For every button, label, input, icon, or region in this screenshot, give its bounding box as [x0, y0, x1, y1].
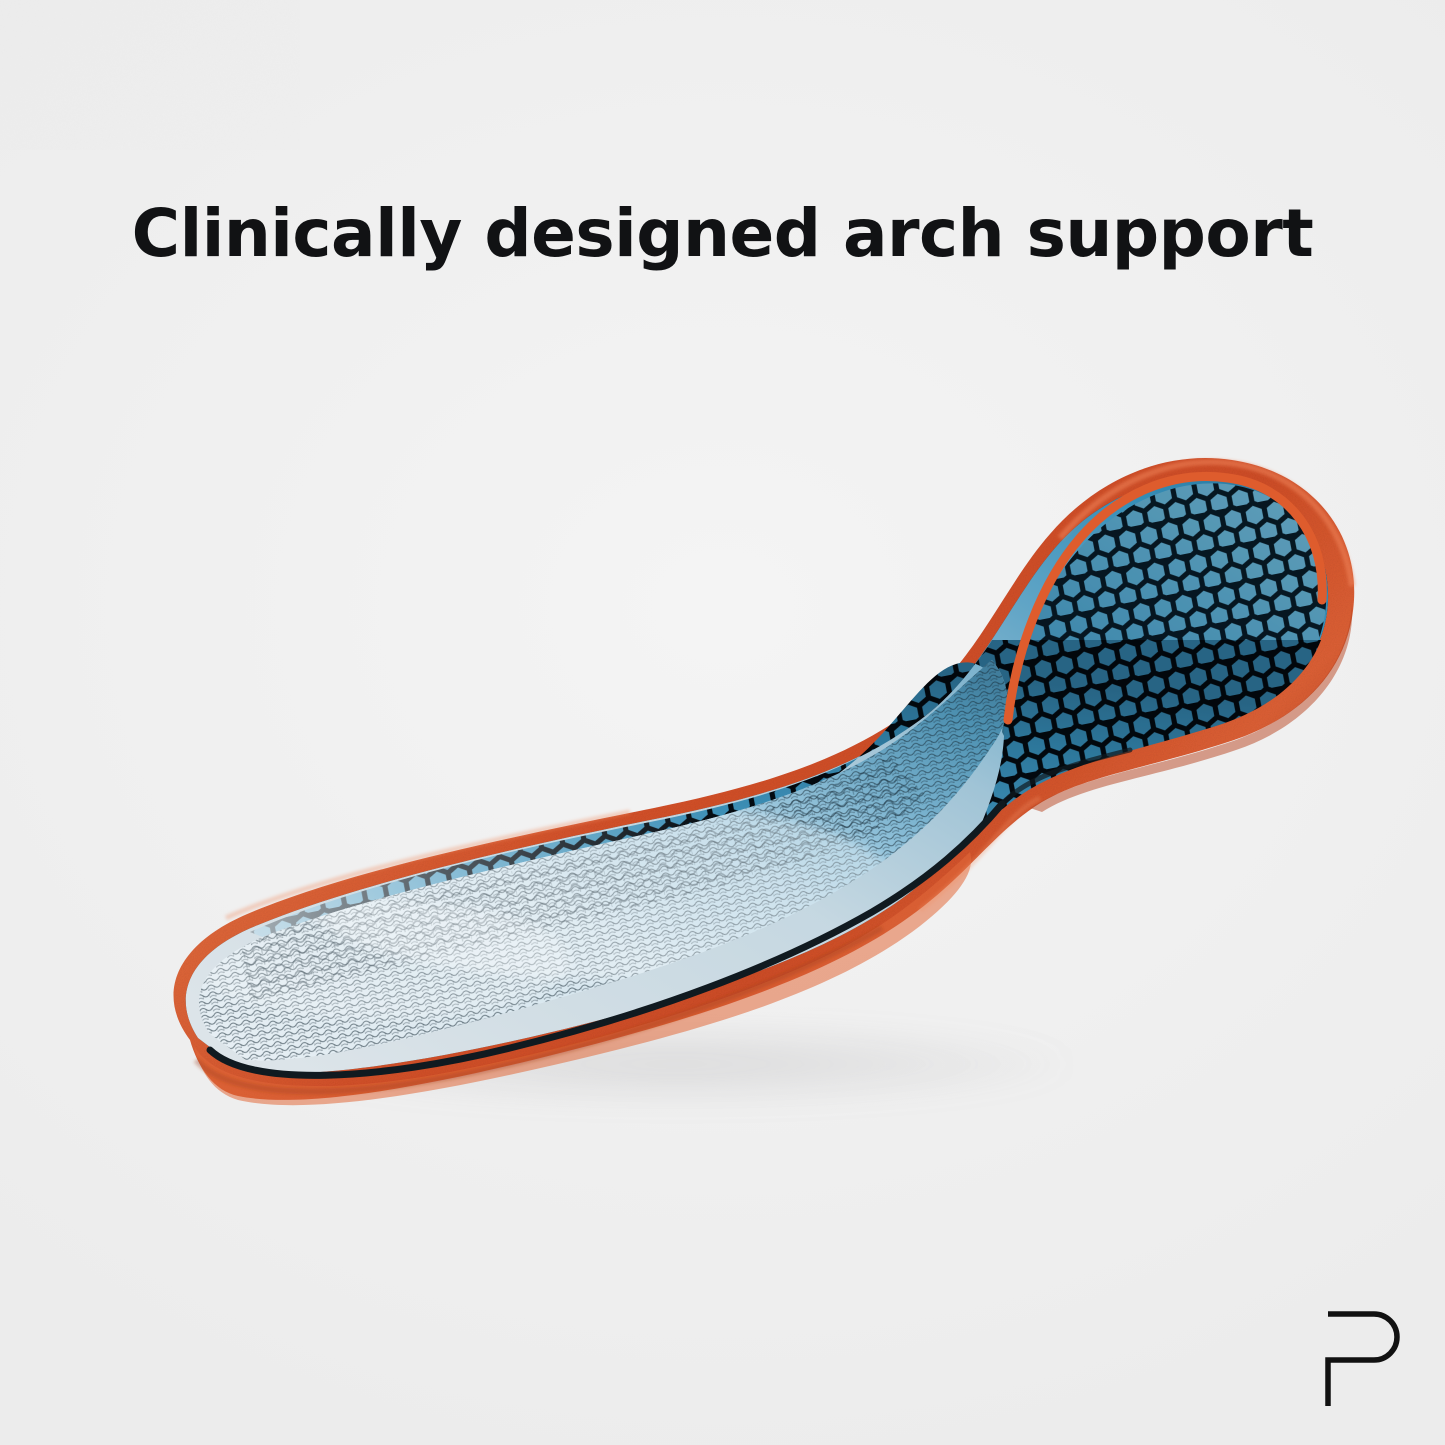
- product-hero-canvas: Clinically designed arch support: [0, 0, 1445, 1445]
- insole-vector: [130, 420, 1430, 1120]
- hero-headline: Clinically designed arch support: [0, 199, 1445, 268]
- insole-product-image: [130, 420, 1430, 1120]
- brand-logo-p: [1322, 1308, 1406, 1408]
- background-grain: [0, 0, 300, 150]
